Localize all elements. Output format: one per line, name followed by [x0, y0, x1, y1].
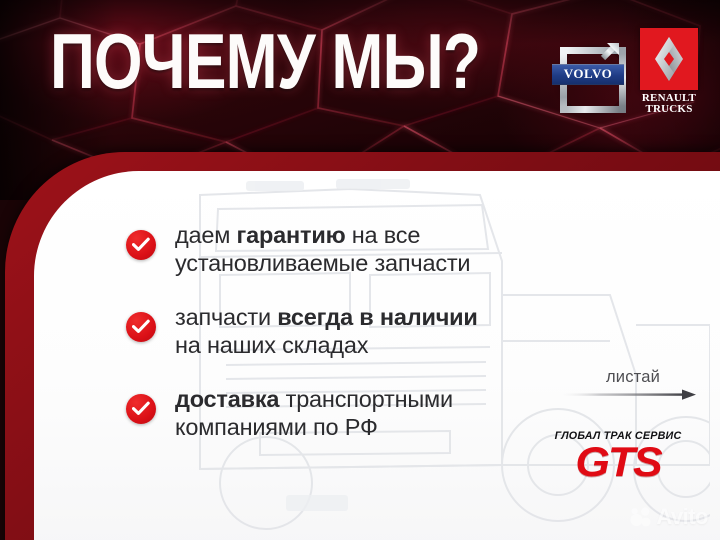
benefit-text: запчасти всегда в наличии на наших склад… [175, 303, 478, 359]
avito-dots-icon [630, 507, 652, 527]
benefit-text: доставка транспортными компаниями по РФ [175, 385, 453, 441]
volvo-arrow-icon [596, 39, 622, 65]
brand-logo-group: VOLVO [552, 28, 698, 115]
swipe-hint[interactable]: листай [556, 368, 696, 402]
renault-trucks-logo: RENAULT TRUCKS [640, 28, 698, 115]
benefit-line-1: даем гарантию на все [175, 221, 470, 249]
avito-wordmark: Avito [656, 504, 708, 530]
benefits-list: даем гарантию на все установливаемые зап… [126, 221, 478, 467]
check-circle-icon [126, 394, 156, 424]
benefit-item: запчасти всегда в наличии на наших склад… [126, 303, 478, 359]
benefit-line-1: доставка транспортными [175, 385, 453, 413]
renault-wordmark-line2: TRUCKS [640, 104, 698, 115]
renault-diamond-icon [640, 28, 698, 90]
benefit-line-2: компаниями по РФ [175, 413, 453, 441]
page-title: ПОЧЕМУ МЫ? [50, 20, 480, 102]
benefit-item: доставка транспортными компаниями по РФ [126, 385, 478, 441]
volvo-logo: VOLVO [552, 33, 624, 111]
gts-company-logo: ГЛОБАЛ ТРАК СЕРВИС GTS [538, 430, 698, 484]
benefit-line-2: на наших складах [175, 331, 478, 359]
volvo-wordmark-bar: VOLVO [552, 64, 624, 85]
gts-wordmark: GTS [533, 440, 703, 484]
benefit-text: даем гарантию на все установливаемые зап… [175, 221, 470, 277]
benefit-line-1: запчасти всегда в наличии [175, 303, 478, 331]
check-circle-icon [126, 230, 156, 260]
avito-watermark: Avito [630, 504, 708, 530]
benefit-line-2: установливаемые запчасти [175, 249, 470, 277]
benefit-item: даем гарантию на все установливаемые зап… [126, 221, 478, 277]
arrow-right-icon [556, 388, 696, 402]
swipe-hint-label: листай [570, 368, 696, 387]
volvo-wordmark: VOLVO [564, 66, 612, 82]
promo-slide: ПОЧЕМУ МЫ? VOLVO [0, 0, 720, 540]
check-circle-icon [126, 312, 156, 342]
renault-wordmark: RENAULT TRUCKS [640, 93, 698, 115]
